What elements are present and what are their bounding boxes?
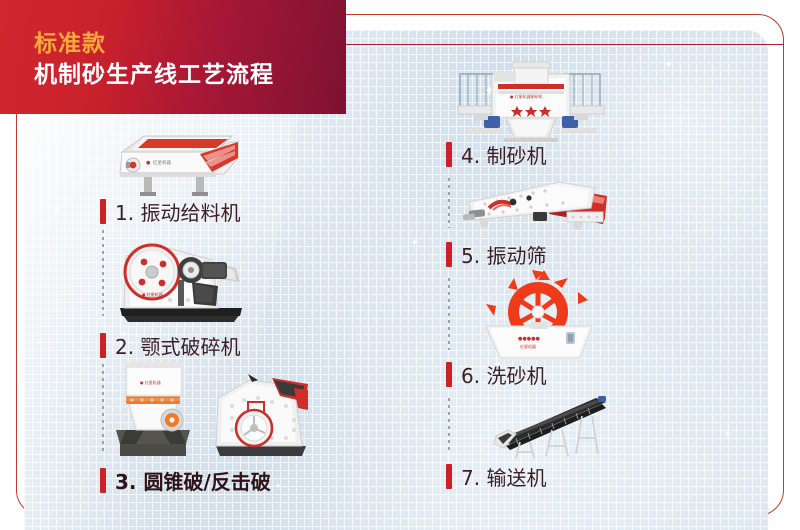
connector-line-left-2 — [102, 364, 104, 454]
banner-subtitle: 标准款 — [34, 24, 106, 58]
step-marker-bar — [100, 468, 106, 493]
flow-step-6-label: 6. 洗砂机 — [461, 360, 546, 389]
connector-line-right-5 — [448, 278, 450, 350]
connector-line-right-4 — [448, 178, 450, 228]
machine-image-sand-washer: ●●●●● 红星机器 — [484, 278, 596, 360]
machine-image-belt-conveyor — [486, 394, 614, 460]
step-marker-bar — [100, 199, 106, 224]
machine-image-cone-crusher: ● 红星机器 — [106, 358, 200, 460]
sparkle-icon: ✦ — [724, 430, 732, 439]
banner-divider-line — [346, 44, 784, 45]
svg-text:● 红星机器: ● 红星机器 — [140, 379, 161, 385]
banner-title: 机制砂生产线工艺流程 — [34, 55, 274, 89]
svg-text:红星机器: 红星机器 — [520, 343, 536, 349]
flow-step-6[interactable]: 6. 洗砂机 — [446, 360, 546, 389]
machine-image-vibrating-screen — [455, 174, 615, 238]
step-marker-bar — [446, 464, 452, 489]
flow-step-2-label: 2. 颚式破碎机 — [115, 331, 240, 360]
flow-step-4-label: 4. 制砂机 — [461, 140, 546, 169]
screenshot-root: ✦ ✦ ✦ ✦ ✦ ✦ ✦ ✦ ✦ ✦ 标准款 机制砂生产线工艺流程 — [0, 0, 800, 530]
sparkle-icon: ✦ — [410, 238, 419, 249]
flow-step-7-label: 7. 输送机 — [461, 462, 546, 491]
flow-step-2[interactable]: 2. 颚式破碎机 — [100, 331, 240, 360]
svg-text:●: ● — [146, 160, 151, 166]
step-marker-bar — [446, 362, 452, 387]
flow-step-7[interactable]: 7. 输送机 — [446, 462, 546, 491]
sparkle-icon: ✦ — [274, 482, 282, 491]
header-banner: 标准款 机制砂生产线工艺流程 — [0, 0, 346, 114]
flow-step-5-label: 5. 振动筛 — [461, 240, 546, 269]
machine-image-sand-making-machine: ● 红星机器制砂机 — [444, 54, 616, 144]
svg-text:● 红星机器制砂机: ● 红星机器制砂机 — [510, 93, 543, 99]
machine-image-jaw-crusher: ● 红星机器 — [108, 226, 258, 326]
svg-text:●●●●●: ●●●●● — [518, 336, 540, 342]
sparkle-icon: ✦ — [52, 206, 61, 217]
flow-step-3-label: 3. 圆锥破/反击破 — [115, 466, 271, 495]
machine-image-impact-crusher — [210, 358, 312, 460]
connector-line-right-6 — [448, 398, 450, 452]
connector-line-left-1 — [102, 230, 104, 316]
flow-step-1[interactable]: 1. 振动给料机 — [100, 197, 240, 226]
sparkle-icon: ✦ — [664, 60, 673, 71]
svg-text:红星机器: 红星机器 — [153, 159, 171, 166]
flow-step-3[interactable]: 3. 圆锥破/反击破 — [100, 466, 271, 495]
flow-step-5[interactable]: 5. 振动筛 — [446, 240, 546, 269]
svg-text:● 红星机器: ● 红星机器 — [142, 291, 163, 297]
machine-image-vibrating-feeder: ● 红星机器 — [104, 118, 244, 196]
flow-step-4[interactable]: 4. 制砂机 — [446, 140, 546, 169]
flow-step-1-label: 1. 振动给料机 — [115, 197, 240, 226]
step-marker-bar — [100, 333, 106, 358]
step-marker-bar — [446, 242, 452, 267]
step-marker-bar — [446, 142, 452, 167]
